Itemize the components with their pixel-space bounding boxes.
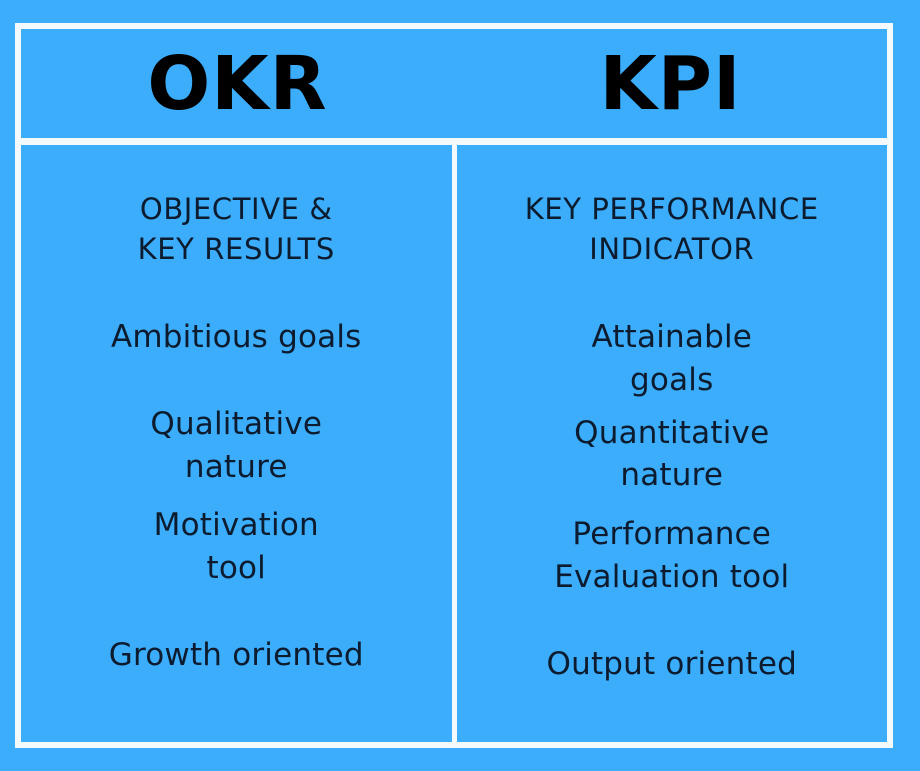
cell-okr-nature: Qualitative nature (21, 403, 452, 489)
cell-line: Output oriented (483, 643, 862, 686)
cell-line: KEY PERFORMANCE (483, 189, 862, 229)
cell-line: Performance (483, 513, 862, 556)
column-okr: OBJECTIVE & KEY RESULTS Ambitious goals … (21, 145, 457, 742)
cell-line: INDICATOR (483, 229, 862, 269)
cell-okr-purpose: Motivation tool (21, 504, 452, 590)
cell-line: goals (483, 359, 862, 402)
header-cell-okr: OKR (21, 29, 454, 138)
cell-line: Qualitative (47, 403, 426, 446)
cell-okr-goals: Ambitious goals (21, 316, 452, 359)
cell-line: Growth oriented (47, 634, 426, 677)
header-cell-kpi: KPI (454, 29, 887, 138)
cell-line: KEY RESULTS (47, 229, 426, 269)
cell-line: Evaluation tool (483, 556, 862, 599)
cell-line: Quantitative (483, 412, 862, 455)
cell-line: Ambitious goals (47, 316, 426, 359)
cell-line: Attainable (483, 316, 862, 359)
cell-kpi-orientation: Output oriented (457, 643, 888, 686)
cell-line: Motivation (47, 504, 426, 547)
cell-kpi-nature: Quantitative nature (457, 412, 888, 498)
comparison-table: OKR KPI OBJECTIVE & KEY RESULTS Ambitiou… (15, 23, 893, 748)
column-header-okr: OKR (147, 47, 327, 121)
table-header-row: OKR KPI (21, 29, 887, 145)
cell-line: nature (483, 454, 862, 497)
cell-line: OBJECTIVE & (47, 189, 426, 229)
cell-line: nature (47, 446, 426, 489)
cell-line: tool (47, 547, 426, 590)
column-header-kpi: KPI (599, 47, 741, 121)
cell-kpi-purpose: Performance Evaluation tool (457, 513, 888, 599)
cell-kpi-goals: Attainable goals (457, 316, 888, 402)
cell-kpi-expansion: KEY PERFORMANCE INDICATOR (457, 189, 888, 269)
cell-okr-expansion: OBJECTIVE & KEY RESULTS (21, 189, 452, 269)
column-kpi: KEY PERFORMANCE INDICATOR Attainable goa… (457, 145, 888, 742)
cell-okr-orientation: Growth oriented (21, 634, 452, 677)
table-body: OBJECTIVE & KEY RESULTS Ambitious goals … (21, 145, 887, 742)
